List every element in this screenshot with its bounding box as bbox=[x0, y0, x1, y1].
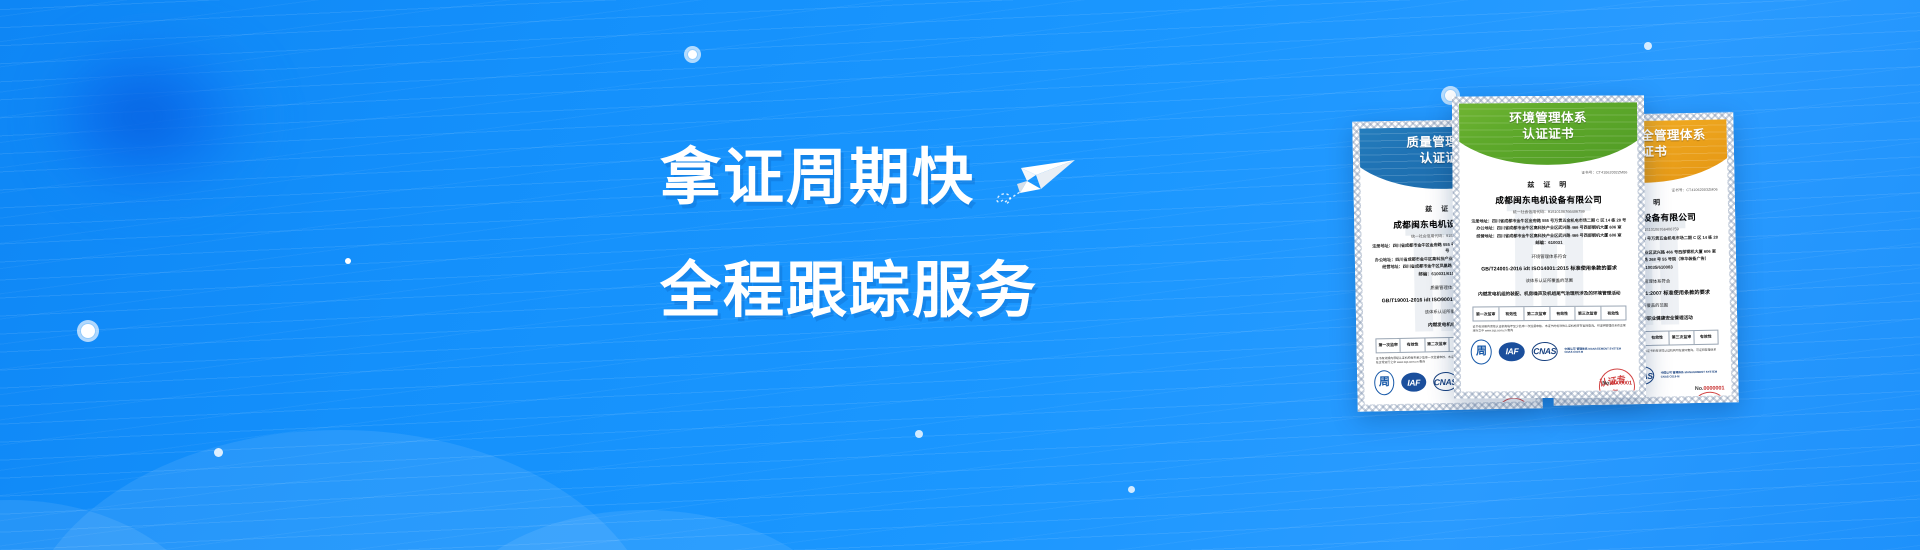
certificate-zip: 邮编：610031 bbox=[1470, 240, 1628, 247]
decor-dot-ring-3 bbox=[77, 320, 99, 342]
headline-row-1: 拿证周期快 bbox=[660, 140, 1080, 214]
certificate-audit-table: 第一次监审 有效性 第二次监审 有效性 第三次监审 有效性 bbox=[1472, 306, 1626, 322]
audit-cell: 第一次监审 bbox=[1376, 339, 1401, 352]
audit-cell: 有效性 bbox=[1601, 307, 1626, 320]
audit-cell: 第三次监审 bbox=[1670, 331, 1695, 344]
decor-dot-2 bbox=[214, 448, 223, 457]
certificate-body: 证书号：CT41062002ZM06 兹 证 明 成都闽东电机设备有限公司 统一… bbox=[1459, 164, 1638, 364]
decor-dot-1 bbox=[345, 258, 351, 264]
audit-cell: 第二次监审 bbox=[1524, 307, 1550, 320]
audit-cell: 有效性 bbox=[1550, 307, 1576, 320]
audit-cell: 有效性 bbox=[1694, 330, 1718, 343]
certificate-scope: 内燃发电机组的装配、机房噪声及机组尾气治理所涉及的环境管理活动 bbox=[1470, 290, 1628, 298]
certificate-environment[interactable]: 环境管理体系 认证证书 证书号：CT41062002ZM06 兹 证 明 成都闽… bbox=[1452, 95, 1646, 398]
accreditation-text: 中国认可 管理体系 MANAGEMENT SYSTEM CNAS C019-M bbox=[1564, 347, 1628, 355]
certificate-system-label: 环境管理体系符合 bbox=[1470, 254, 1628, 261]
certificate-logos: 周 IAF CNAS 中国认可 管理体系 MANAGEMENT SYSTEM C… bbox=[1471, 338, 1629, 364]
certificate-inner: 环境管理体系 认证证书 证书号：CT41062002ZM06 兹 证 明 成都闽… bbox=[1459, 102, 1639, 391]
certificate-number-label: 证书号：CT41062002ZM06 bbox=[1469, 170, 1627, 176]
headline-block: 拿证周期快 全程跟踪服务 bbox=[660, 140, 1080, 321]
audit-cell: 第一次监审 bbox=[1473, 308, 1499, 321]
certificate-header: 环境管理体系 认证证书 bbox=[1459, 102, 1637, 165]
headline-line-2: 全程跟踪服务 bbox=[660, 260, 1080, 321]
decor-dot-ring-1 bbox=[684, 46, 701, 63]
decor-dot-5 bbox=[1644, 42, 1652, 50]
decor-dot-3 bbox=[1128, 486, 1135, 493]
certificate-standard: GB/T24001-2016 idt ISO14001:2015 标准使用条款的… bbox=[1470, 265, 1628, 273]
certificate-title-line-2: 认证证书 bbox=[1459, 125, 1637, 142]
serial-value: 0000001 bbox=[1611, 380, 1632, 386]
serial-value: 0000001 bbox=[1703, 385, 1724, 391]
certificates-group: 质量管理体系 认证证书 证书号：CT41062001ZM06 兹 证 明 成都闽… bbox=[1355, 84, 1920, 464]
certificate-address-3: 经营地址：四川省成都市金牛区高科技产业区武兴路 466 号西部钢机大厦 606 … bbox=[1470, 232, 1628, 240]
certificate-company-name: 成都闽东电机设备有限公司 bbox=[1470, 193, 1628, 206]
audit-cell: 第二次监审 bbox=[1425, 338, 1450, 351]
certificate-title-line-1: 环境管理体系 bbox=[1509, 111, 1587, 126]
cqc-seal-logo: 周 bbox=[1471, 339, 1493, 364]
audit-cell: 第三次监审 bbox=[1575, 307, 1601, 320]
paper-plane-icon bbox=[993, 144, 1079, 214]
iaf-logo: IAF bbox=[1499, 342, 1525, 361]
certificate-serial: No.0000001 bbox=[1695, 385, 1725, 392]
certificate-attest-label: 兹 证 明 bbox=[1470, 179, 1628, 190]
certificate-fine-print: 证书有效期内须经认证机构每年至少监审一次监督审核，本证书的有效性认证机构可在官网… bbox=[1471, 324, 1629, 334]
serial-prefix: No. bbox=[1695, 386, 1704, 392]
accreditation-text: 中国认可 管理体系 MANAGEMENT SYSTEM CNAS C019-M bbox=[1661, 370, 1722, 378]
certificate-scope-label: 该体系认证所覆盖的范围 bbox=[1470, 278, 1628, 285]
cnas-logo: CNAS bbox=[1532, 342, 1558, 361]
cqc-seal-logo: 周 bbox=[1374, 370, 1395, 395]
audit-cell: 有效性 bbox=[1401, 338, 1426, 351]
promo-banner: 拿证周期快 全程跟踪服务 bbox=[0, 0, 1920, 550]
red-approval-seal: 认证专用章 bbox=[1596, 365, 1637, 391]
serial-prefix: No. bbox=[1602, 381, 1611, 387]
certificate-serial: No.0000001 bbox=[1602, 380, 1632, 386]
iaf-logo: IAF bbox=[1401, 372, 1426, 391]
certificate-credit-code: 统一社会信用代码：91510106766406759 bbox=[1470, 208, 1628, 215]
certificate-address-2: 办公地址：四川省成都市金牛区高科技产业区武兴路 466 号西部钢机大厦 606 … bbox=[1470, 225, 1628, 233]
audit-cell: 有效性 bbox=[1645, 331, 1670, 344]
decor-dot-4 bbox=[915, 430, 923, 438]
audit-cell: 有效性 bbox=[1499, 307, 1525, 320]
certificate-title: 环境管理体系 认证证书 bbox=[1459, 109, 1637, 142]
headline-line-1: 拿证周期快 bbox=[660, 147, 975, 208]
